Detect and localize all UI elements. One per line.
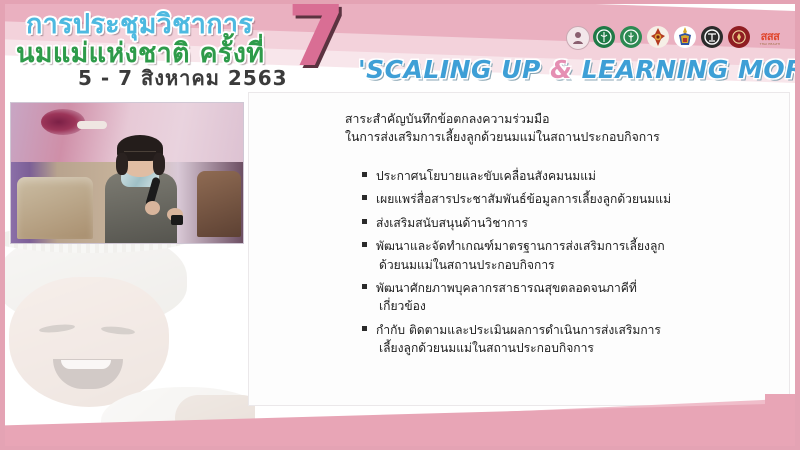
logo-ministry-public-health-1 [593,26,615,56]
content-heading-line2: ในการส่งเสริมการเลี้ยงลูกด้วยนมแม่ในสถาน… [345,129,765,147]
tagline-prefix: 'SCALING UP [358,55,550,84]
bullet-square-icon [362,172,367,177]
slide-root: การประชุมวิชาการ นมแม่แห่งชาติ ครั้งที่ … [0,0,800,450]
remote-clicker [171,215,183,225]
background-screen-mouth-image [41,109,85,135]
logo-thaihealth-sss: สสส THAI HEALTH [755,26,787,56]
footer-sweep-right-block [765,394,795,446]
bullet-text-line1: เผยแพร่สื่อสารประชาสัมพันธ์ข้อมูลการเลี้… [376,192,671,206]
edition-number: 7 [287,0,345,78]
list-item: พัฒนาและจัดทำเกณฑ์มาตรฐานการส่งเสริมการเ… [362,237,762,274]
list-item: ส่งเสริมสนับสนุนด้านวิชาการ [362,214,762,232]
logo-ministry-labour [701,26,723,56]
thaihealth-logo-caption: THAI HEALTH [760,42,780,46]
presenter-figure [99,135,181,243]
bullet-text-line1: พัฒนาและจัดทำเกณฑ์มาตรฐานการส่งเสริมการเ… [376,239,665,253]
list-item: เผยแพร่สื่อสารประชาสัมพันธ์ข้อมูลการเลี้… [362,190,762,208]
partner-logo-strip: สสส THAI HEALTH [566,26,787,56]
logo-thai-emblem-garuda [647,26,669,56]
thaihealth-logo-text: สสส [761,31,780,42]
bullet-text-line1: พัฒนาศักยภาพบุคลากรสาธารณสุขตลอดจนภาคีที… [376,281,637,295]
logo-ministry-seal-red [728,26,750,56]
event-date: 5 - 7 สิงหาคม 2563 [78,62,288,94]
event-tagline: 'SCALING UP & LEARNING MORE' [358,55,800,84]
list-item: ประกาศนโยบายและขับเคลื่อนสังคมนมแม่ [362,167,762,185]
bullet-square-icon [362,195,367,200]
baby-watermark-image [5,225,255,430]
list-item: กำกับ ติดตามและประเมินผลการดำเนินการส่งเ… [362,321,762,358]
bullet-text-line1: ส่งเสริมสนับสนุนด้านวิชาการ [376,216,528,230]
tagline-suffix: LEARNING MORE' [572,55,800,84]
content-bullet-list: ประกาศนโยบายและขับเคลื่อนสังคมนมแม่ เผยแ… [362,167,762,362]
chair-left [17,177,93,239]
bullet-text-line2: เกี่ยวข้อง [376,297,762,315]
list-item: พัฒนาศักยภาพบุคลากรสาธารณสุขตลอดจนภาคีที… [362,279,762,316]
logo-royal-crest [674,26,696,56]
presenter-video-inset[interactable] [10,102,244,244]
bullet-text-line2: เลี้ยงลูกด้วยนมแม่ในสถานประกอบกิจการ [376,339,762,357]
bullet-square-icon [362,219,367,224]
content-heading: สาระสำคัญบันทึกข้อตกลงความร่วมมือ ในการส… [345,111,765,147]
logo-royal-patronage [566,26,588,56]
bullet-square-icon [362,284,367,289]
content-panel: สาระสำคัญบันทึกข้อตกลงความร่วมมือ ในการส… [248,92,790,406]
chair-right [197,171,241,237]
bullet-text-line1: กำกับ ติดตามและประเมินผลการดำเนินการส่งเ… [376,323,661,337]
logo-ministry-public-health-2 [620,26,642,56]
bullet-square-icon [362,326,367,331]
content-heading-line1: สาระสำคัญบันทึกข้อตกลงความร่วมมือ [345,111,765,129]
bullet-text-line1: ประกาศนโยบายและขับเคลื่อนสังคมนมแม่ [376,169,596,183]
tagline-ampersand: & [550,55,572,84]
bullet-square-icon [362,242,367,247]
bullet-text-line2: ด้วยนมแม่ในสถานประกอบกิจการ [376,256,762,274]
